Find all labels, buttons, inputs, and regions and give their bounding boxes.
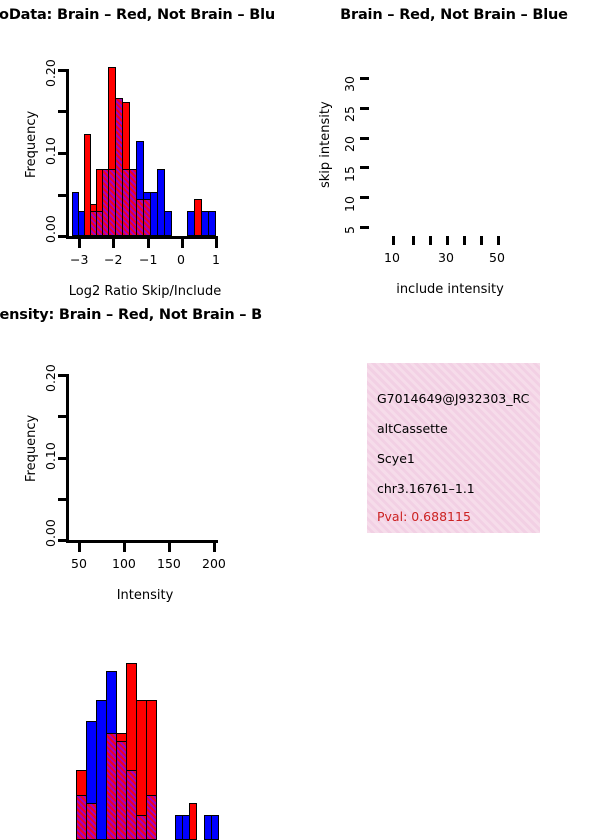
intensity-y-tickmark — [58, 374, 67, 377]
ratio-x-tickmark — [147, 239, 150, 248]
intensity-histogram-ylabel: Frequency — [24, 415, 39, 482]
scatter-x-tickmark — [463, 236, 466, 245]
ratio-x-tick-1: −2 — [104, 252, 122, 267]
scatter-xlabel: include intensity — [300, 282, 600, 297]
panel-info: G7014649@J932303_RC altCassette Scye1 ch… — [300, 300, 600, 600]
info-line-gene: Scye1 — [377, 451, 415, 466]
scatter-y-tick-15: 15 — [342, 166, 357, 182]
intensity-x-tickmark — [168, 543, 171, 552]
scatter-x-tickmark — [480, 236, 483, 245]
plot-page: RatioData: Brain – Red, Not Brain – Blu … — [0, 0, 600, 600]
panel-scatter: Brain – Red, Not Brain – Blue skip inten… — [300, 0, 600, 300]
ratio-x-tick-2: −1 — [139, 252, 157, 267]
bar-overlap — [146, 795, 157, 840]
info-line-probeset: G7014649@J932303_RC — [377, 391, 529, 406]
panel-intensity-histogram: ne Itensity: Brain – Red, Not Brain – B … — [0, 300, 300, 600]
scatter-x-tick-50: 50 — [489, 250, 505, 265]
bar-brain — [189, 803, 197, 840]
intensity-y-tickmark — [58, 457, 67, 460]
intensity-x-tick-50: 50 — [71, 556, 87, 571]
intensity-y-tick-0: 0.00 — [43, 519, 58, 547]
ratio-x-tick-3: 0 — [177, 252, 185, 267]
info-line-locus: chr3.16761–1.1 — [377, 481, 475, 496]
ratio-x-tickmark — [78, 239, 81, 248]
scatter-x-tickmark — [497, 236, 500, 245]
intensity-y-tick-1: 0.10 — [43, 442, 58, 470]
scatter-y-tickmark — [360, 226, 369, 229]
scatter-x-tick-10: 10 — [384, 250, 400, 265]
ratio-x-tickmark — [215, 239, 218, 248]
scatter-x-tickmark — [446, 236, 449, 245]
intensity-y-tickmark — [58, 498, 67, 501]
scatter-y-tick-20: 20 — [342, 136, 357, 152]
ratio-y-tickmark — [58, 194, 67, 197]
scatter-y-tick-5: 5 — [342, 226, 357, 234]
ratio-y-tick-1: 0.10 — [43, 137, 58, 165]
scatter-x-tick-30: 30 — [438, 250, 454, 265]
scatter-y-tickmark — [360, 196, 369, 199]
ratio-y-tickmark — [58, 110, 67, 113]
ratio-x-tick-0: −3 — [70, 252, 88, 267]
scatter-y-tick-25: 25 — [342, 106, 357, 122]
intensity-y-tickmark — [58, 415, 67, 418]
ratio-y-tick-2: 0.20 — [43, 59, 58, 87]
intensity-histogram-bars — [72, 666, 218, 840]
intensity-x-axis — [66, 540, 218, 543]
ratio-histogram-ylabel: Frequency — [24, 111, 39, 178]
intensity-x-tickmark — [78, 543, 81, 552]
info-line-event-type: altCassette — [377, 421, 448, 436]
scatter-y-tickmark — [360, 137, 369, 140]
scatter-y-tick-30: 30 — [342, 76, 357, 92]
ratio-x-tickmark — [181, 239, 184, 248]
ratio-y-tickmark — [58, 152, 67, 155]
scatter-y-tickmark — [360, 166, 369, 169]
scatter-title: Brain – Red, Not Brain – Blue — [300, 0, 600, 30]
scatter-x-tickmark — [429, 236, 432, 245]
ratio-x-tick-4: 1 — [212, 252, 220, 267]
scatter-x-tickmark — [392, 236, 395, 245]
intensity-x-tick-150: 150 — [157, 556, 181, 571]
scatter-y-tickmark — [360, 77, 369, 80]
intensity-histogram-xlabel: Intensity — [0, 588, 290, 603]
ratio-histogram-bars — [72, 60, 218, 236]
bar-overlap — [86, 803, 97, 840]
scatter-ylabel: skip intensity — [318, 101, 333, 188]
scatter-y-tickmark — [360, 107, 369, 110]
intensity-x-tick-100: 100 — [112, 556, 136, 571]
bar-notbrain — [208, 211, 216, 236]
ratio-y-tickmark — [58, 69, 67, 72]
ratio-y-tick-0: 0.00 — [43, 215, 58, 243]
ratio-histogram-xlabel: Log2 Ratio Skip/Include — [0, 284, 290, 299]
bar-notbrain — [164, 211, 172, 236]
ratio-x-axis — [66, 236, 218, 239]
ratio-histogram-title: RatioData: Brain – Red, Not Brain – Blu — [0, 0, 300, 30]
intensity-y-tick-2: 0.20 — [43, 364, 58, 392]
info-line-pval: Pval: 0.688115 — [377, 509, 471, 524]
info-box: G7014649@J932303_RC altCassette Scye1 ch… — [367, 363, 540, 533]
bar-overlap — [143, 199, 151, 236]
intensity-x-tickmark — [123, 543, 126, 552]
scatter-x-tickmark — [412, 236, 415, 245]
intensity-histogram-title: ne Itensity: Brain – Red, Not Brain – B — [0, 300, 300, 330]
intensity-x-tick-200: 200 — [202, 556, 226, 571]
ratio-x-tickmark — [112, 239, 115, 248]
scatter-y-tick-10: 10 — [342, 196, 357, 212]
intensity-x-tickmark — [213, 543, 216, 552]
bar-notbrain — [211, 815, 219, 840]
panel-ratio-histogram: RatioData: Brain – Red, Not Brain – Blu … — [0, 0, 300, 300]
